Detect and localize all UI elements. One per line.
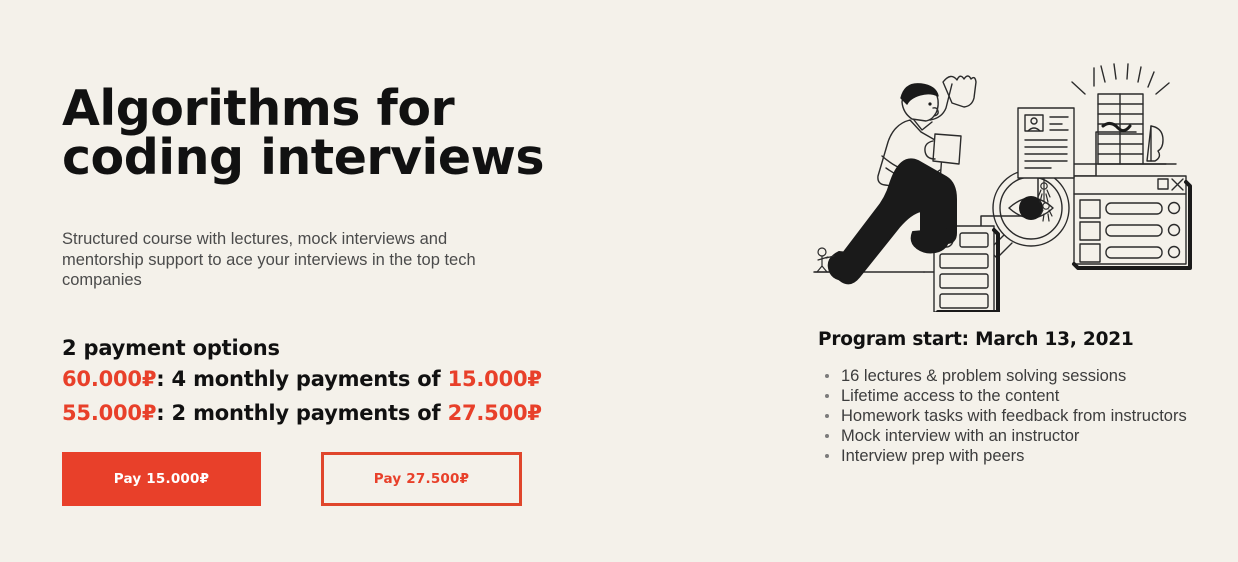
feature-list: 16 lectures & problem solving sessions L…	[818, 352, 1208, 466]
bullet-icon	[825, 434, 829, 438]
browser-window-icon	[1074, 176, 1190, 268]
cta-button-group: Pay 15.000₽ Pay 27.500₽	[62, 452, 522, 506]
feature-text: Interview prep with peers	[841, 447, 1024, 465]
feature-text: Mock interview with an instructor	[841, 427, 1079, 445]
price-total: 60.000₽	[62, 367, 156, 391]
landing-page: Algorithms for coding interviews Structu…	[0, 0, 1238, 562]
list-item: Lifetime access to the content	[818, 386, 1208, 406]
page-title: Algorithms for coding interviews	[62, 84, 762, 182]
list-item: 16 lectures & problem solving sessions	[818, 366, 1208, 386]
bullet-icon	[825, 394, 829, 398]
bullet-icon	[825, 414, 829, 418]
pay-15000-button[interactable]: Pay 15.000₽	[62, 452, 261, 506]
program-start-label: Program start: March 13, 2021	[818, 328, 1208, 352]
pricing-section: 2 payment options 60.000₽: 4 monthly pay…	[62, 334, 762, 430]
pricing-title: 2 payment options	[62, 334, 762, 362]
hero-section: Algorithms for coding interviews Structu…	[62, 84, 762, 291]
feature-text: 16 lectures & problem solving sessions	[841, 367, 1126, 385]
list-item: Homework tasks with feedback from instru…	[818, 406, 1208, 426]
career-growth-illustration	[806, 36, 1194, 312]
bullet-icon	[825, 454, 829, 458]
price-option-row: 55.000₽: 2 monthly payments of 27.500₽	[62, 396, 762, 430]
price-installment: 27.500₽	[448, 401, 542, 425]
price-installment: 15.000₽	[448, 367, 542, 391]
feature-text: Homework tasks with feedback from instru…	[841, 407, 1187, 425]
program-info-section: Program start: March 13, 2021 16 lecture…	[818, 328, 1208, 466]
list-item: Interview prep with peers	[818, 446, 1208, 466]
price-total: 55.000₽	[62, 401, 156, 425]
magnifier-eye-icon	[989, 170, 1069, 258]
price-description: : 2 monthly payments of	[156, 401, 447, 425]
list-item: Mock interview with an instructor	[818, 426, 1208, 446]
hero-subtitle: Structured course with lectures, mock in…	[62, 182, 522, 291]
pay-27500-button[interactable]: Pay 27.500₽	[321, 452, 522, 506]
price-option-row: 60.000₽: 4 monthly payments of 15.000₽	[62, 362, 762, 396]
feature-text: Lifetime access to the content	[841, 387, 1059, 405]
bullet-icon	[825, 374, 829, 378]
price-description: : 4 monthly payments of	[156, 367, 447, 391]
